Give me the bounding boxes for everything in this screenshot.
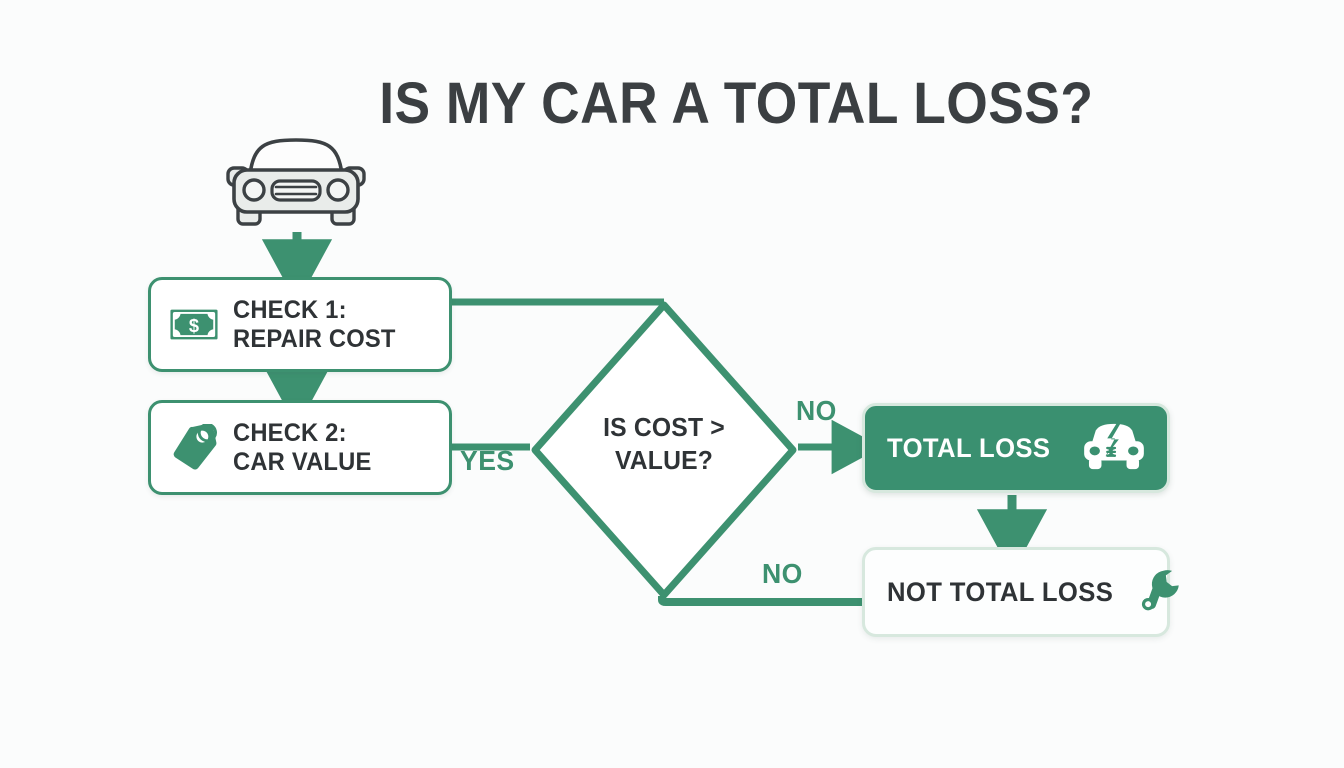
node-not-total-loss[interactable]: NOT TOTAL LOSS <box>862 547 1170 637</box>
not-total-loss-label: NOT TOTAL LOSS <box>887 577 1113 608</box>
damaged-car-icon <box>1079 420 1149 476</box>
node-check2-car-value[interactable]: CHECK 2: CAR VALUE <box>148 400 452 495</box>
flowchart-canvas: IS MY CAR A TOTAL LOSS? <box>0 0 1344 768</box>
svg-text:$: $ <box>189 315 199 336</box>
check1-line2: REPAIR COST <box>233 325 438 354</box>
check1-line1: CHECK 1: <box>233 296 347 324</box>
edge-label-no-top: NO <box>796 395 837 427</box>
node-check2-label: CHECK 2: CAR VALUE <box>233 419 438 477</box>
decision-line1: IS COST > <box>603 412 725 442</box>
total-loss-label: TOTAL LOSS <box>887 433 1050 464</box>
node-total-loss[interactable]: TOTAL LOSS <box>862 403 1170 493</box>
decision-label: IS COST > VALUE? <box>554 411 774 477</box>
check2-line1: CHECK 2: <box>233 419 347 447</box>
edge-label-no-bottom: NO <box>762 558 803 590</box>
money-bill-icon: $ <box>165 298 223 352</box>
node-check1-label: CHECK 1: REPAIR COST <box>233 296 438 354</box>
page-title: IS MY CAR A TOTAL LOSS? <box>379 72 1005 136</box>
edge-label-yes: YES <box>460 445 515 477</box>
check2-line2: CAR VALUE <box>233 448 438 477</box>
price-tag-icon <box>165 421 223 475</box>
decision-line2: VALUE? <box>615 445 713 475</box>
node-check1-repair-cost[interactable]: $ CHECK 1: REPAIR COST <box>148 277 452 372</box>
wrench-icon <box>1125 564 1195 620</box>
front-car-icon <box>222 132 370 228</box>
